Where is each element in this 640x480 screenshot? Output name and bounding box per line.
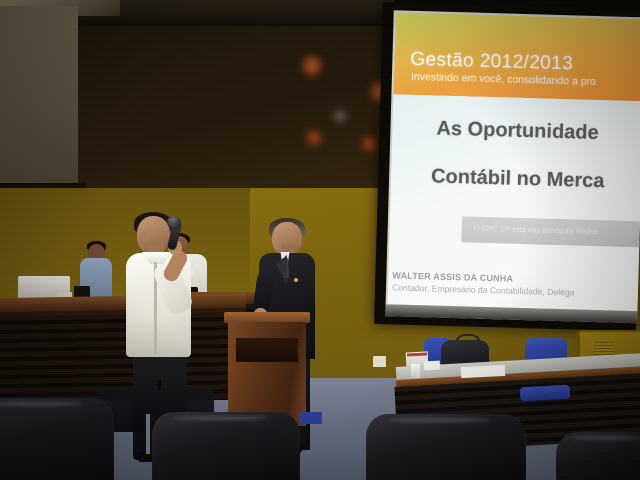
paper-sheet (461, 365, 506, 378)
chair-leg (146, 414, 150, 454)
slide-headline-line1: As Oportunidade (436, 118, 599, 146)
foreground-chair (0, 398, 114, 480)
foreground-chair (366, 414, 526, 480)
standing-speaker-ear (141, 232, 148, 242)
plastic-cup (411, 364, 420, 378)
slide-callout-text: O CRC SP está nas principais Redes (474, 224, 598, 236)
left-wall-panel (0, 6, 78, 188)
slide-speaker-role: Contador, Empresário da Contabilidade, D… (392, 282, 575, 297)
podium-inset (236, 338, 298, 362)
lapel-pin (294, 278, 298, 282)
foreground-chair (556, 432, 640, 480)
slide: Gestão 2012/2013 Investindo em você, con… (388, 12, 640, 311)
slide-speaker-name: WALTER ASSIS DA CUNHA (392, 270, 513, 283)
lens-flare (358, 134, 380, 154)
slide-body: As Oportunidade Contábil no Merca O CRC … (388, 94, 640, 311)
lens-flare (300, 54, 324, 78)
head-table-front (0, 312, 245, 402)
slide-headline-line2: Contábil no Merca (431, 165, 605, 193)
screen-surface: Gestão 2012/2013 Investindo em você, con… (385, 10, 640, 323)
blue-chair-far (300, 412, 322, 424)
presentation-photo: Gestão 2012/2013 Investindo em você, con… (0, 0, 640, 480)
blue-chair-seat (520, 385, 571, 402)
slide-callout-box: O CRC SP está nas principais Redes (461, 216, 640, 248)
wall-outlet (373, 356, 386, 367)
lens-flare (331, 108, 349, 124)
paper-sheet (424, 361, 440, 371)
foreground-chair (152, 412, 300, 480)
slide-header-band: Gestão 2012/2013 Investindo em você, con… (393, 12, 640, 101)
lens-flare (303, 128, 325, 148)
projection-screen: Gestão 2012/2013 Investindo em você, con… (374, 2, 640, 331)
